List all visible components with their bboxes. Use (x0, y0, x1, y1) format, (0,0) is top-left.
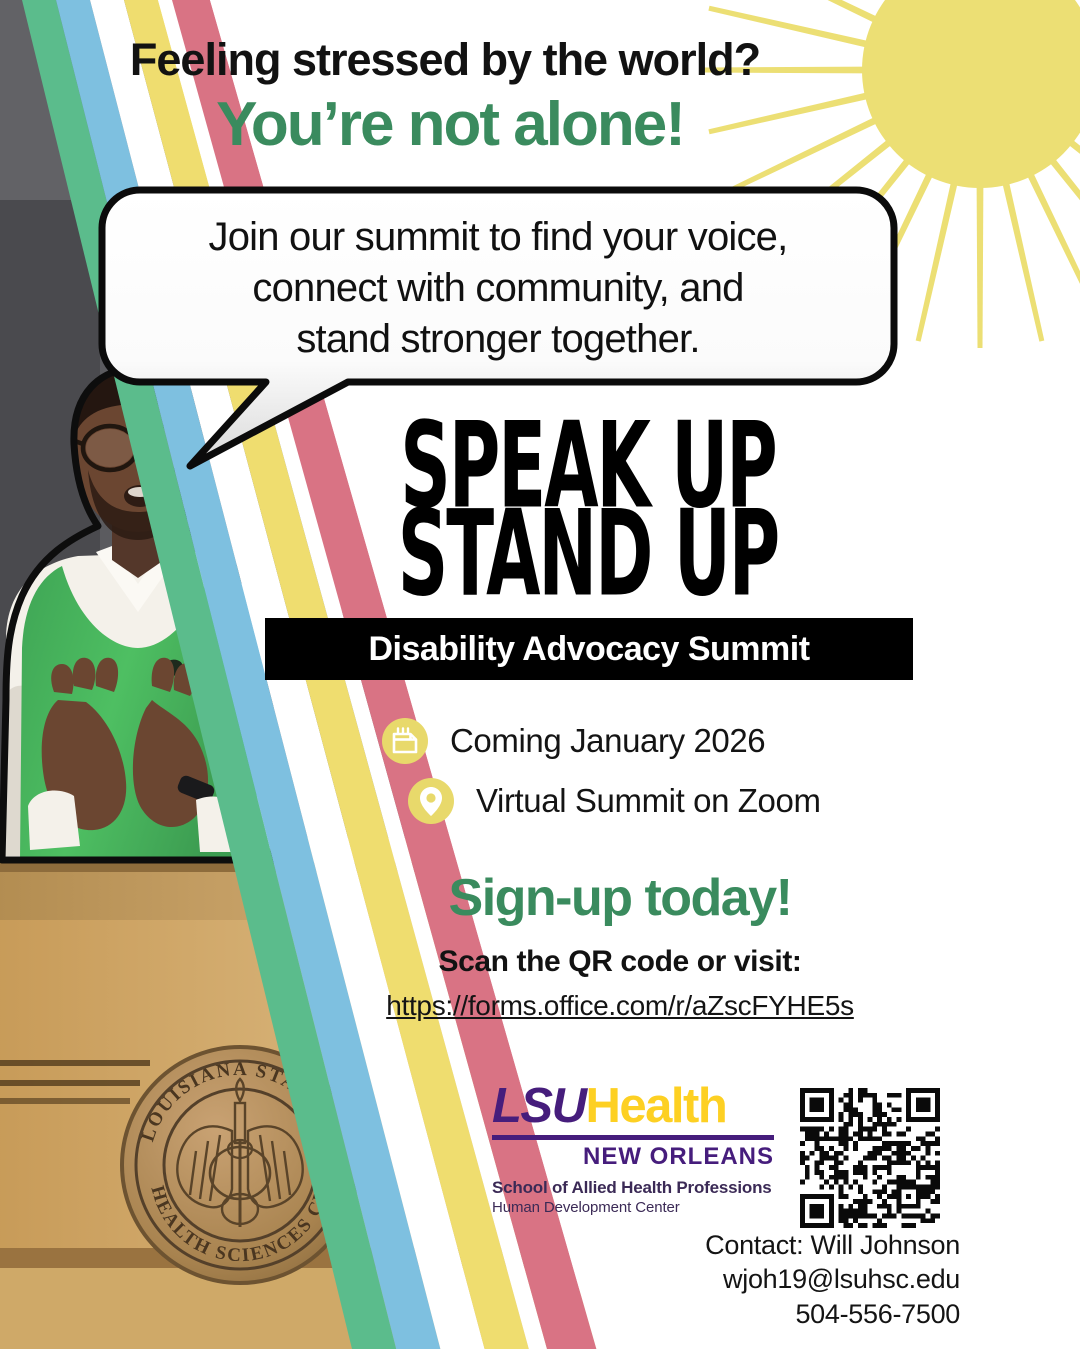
title-line-1: SPEAK UP (48, 420, 1080, 484)
info-label-date: Coming January 2026 (450, 722, 765, 760)
flyer-canvas: LOUISIANA STATE UNIV HEALTH SCIENCES CEN… (0, 0, 1080, 1349)
bubble-line-3: stand stronger together. (128, 314, 868, 365)
signup-cta: Sign-up today! (260, 868, 980, 928)
title-line-2: STAND UP (48, 508, 1080, 572)
location-pin-icon (408, 778, 454, 824)
lsu-campus-text: NEW ORLEANS (492, 1143, 774, 1171)
contact-email: wjoh19@lsuhsc.edu (560, 1262, 960, 1296)
qr-code[interactable] (800, 1088, 940, 1228)
speech-bubble-text: Join our summit to find your voice, conn… (128, 212, 868, 364)
info-row-location: Virtual Summit on Zoom (408, 778, 821, 824)
bubble-line-1: Join our summit to find your voice, (128, 212, 868, 263)
lsu-logo-rule (492, 1135, 774, 1140)
subtitle-banner: Disability Advocacy Summit (265, 618, 913, 680)
contact-block: Contact: Will Johnson wjoh19@lsuhsc.edu … (560, 1228, 960, 1331)
bubble-line-2: connect with community, and (128, 263, 868, 314)
lsu-mark-text: LSU (492, 1079, 586, 1133)
scan-instruction: Scan the QR code or visit: (260, 945, 980, 979)
lsu-health-logo: LSUHealth NEW ORLEANS School of Allied H… (492, 1082, 774, 1216)
signup-url-link[interactable]: https://forms.office.com/r/aZscFYHE5s (260, 990, 980, 1022)
lsu-health-text: Health (586, 1079, 727, 1133)
info-row-date: Coming January 2026 (382, 718, 765, 764)
lsu-school-text: School of Allied Health Professions (492, 1178, 774, 1198)
contact-phone: 504-556-7500 (560, 1297, 960, 1331)
lsu-unit-text: Human Development Center (492, 1199, 774, 1216)
info-label-location: Virtual Summit on Zoom (476, 782, 821, 820)
lsu-logo-wordmark: LSUHealth (492, 1082, 774, 1131)
headline-line-2: You’re not alone! (0, 92, 900, 157)
headline-line-1: Feeling stressed by the world? (0, 36, 890, 83)
contact-name: Contact: Will Johnson (560, 1228, 960, 1262)
calendar-icon (382, 718, 428, 764)
subtitle-text: Disability Advocacy Summit (368, 630, 809, 669)
